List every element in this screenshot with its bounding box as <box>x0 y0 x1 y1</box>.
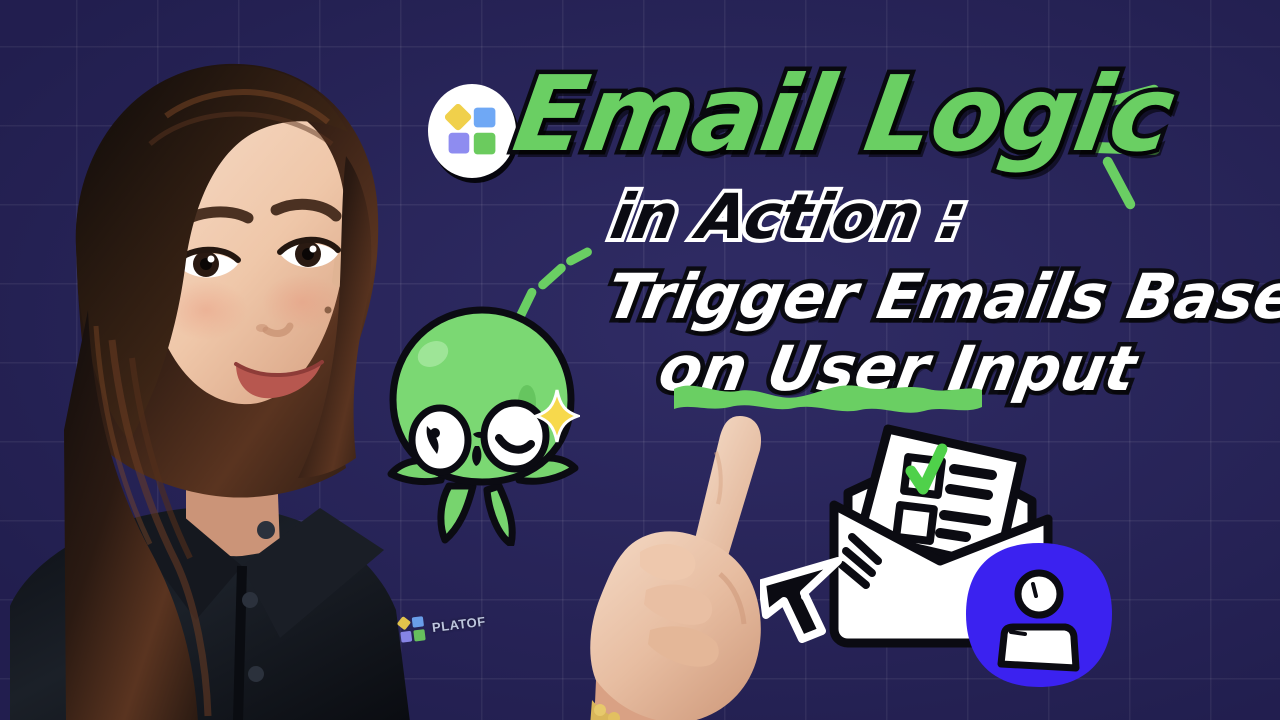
page-title: Email Logic <box>508 62 1180 166</box>
four-point-sparkle-icon <box>534 388 580 444</box>
thumbnail-canvas: Email Logic in Action : Trigger Emails B… <box>0 0 1280 720</box>
pointing-hand <box>588 408 858 720</box>
subtitle-line-2: Trigger Emails Based <box>603 266 1280 328</box>
shirt-logo-text: PLATOF <box>431 613 486 634</box>
platoform-four-squares-logo-icon <box>397 614 428 645</box>
subtitle-line-1: in Action : <box>607 186 972 248</box>
user-avatar-badge <box>963 540 1115 690</box>
